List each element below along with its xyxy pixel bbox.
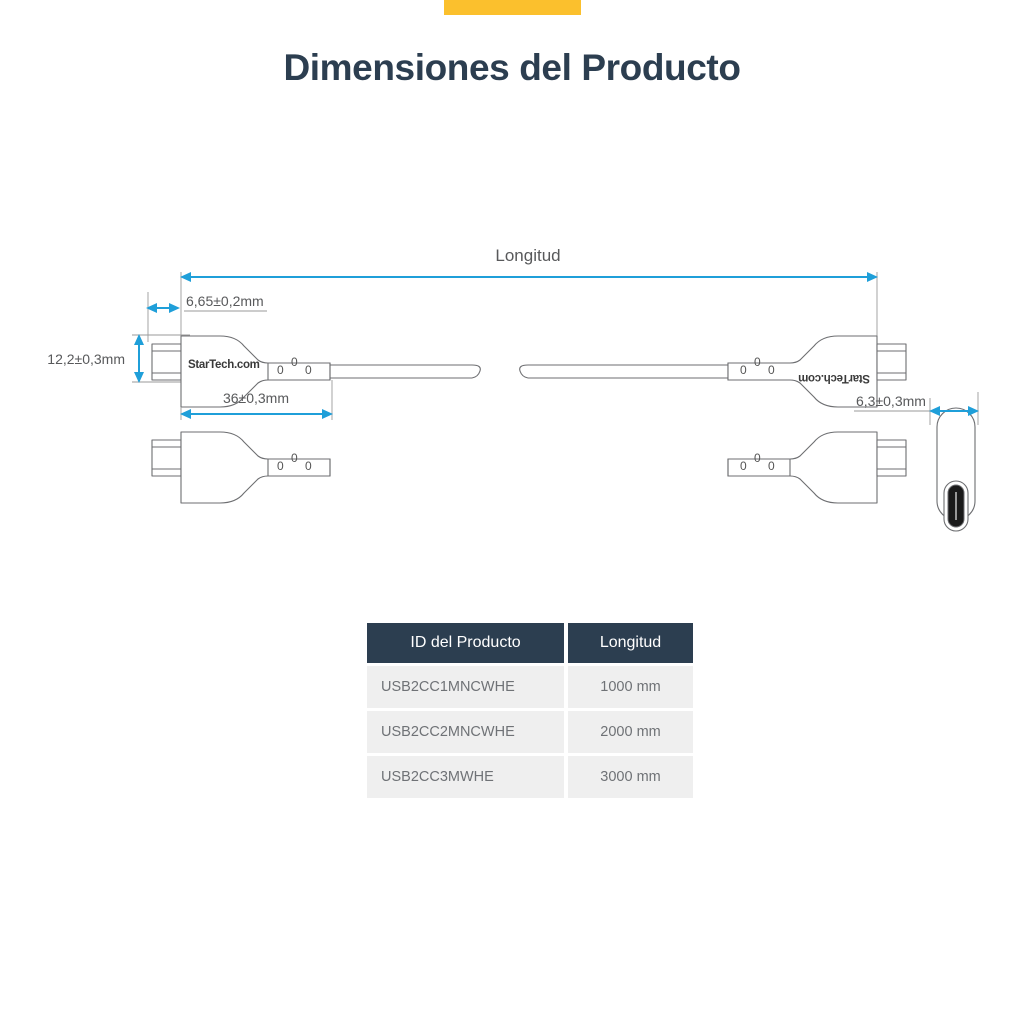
connector-upper-left: StarTech.com 0 0 0	[152, 336, 480, 407]
product-dimension-diagram: Longitud 6,65±0,2mm 12,2±0,3mm	[0, 220, 1024, 550]
cell-length: 3000 mm	[568, 756, 693, 798]
product-dimensions-page: Dimensiones del Producto Longitud 6,65±0…	[0, 0, 1024, 1024]
table-header-row: ID del Producto Longitud	[367, 623, 693, 663]
cell-length: 2000 mm	[568, 711, 693, 753]
brand-label-upper-left: StarTech.com	[188, 359, 260, 371]
brand-label-upper-right: StarTech.com	[798, 372, 870, 384]
connector-mark: 0	[291, 355, 298, 369]
dimension-label-tip-length: 6,65±0,2mm	[186, 293, 264, 309]
table-row: USB2CC2MNCWHE 2000 mm	[367, 711, 693, 753]
dimension-label-connector-height: 12,2±0,3mm	[47, 351, 125, 367]
connector-mark: 0	[740, 459, 747, 473]
connector-mark: 0	[754, 451, 761, 465]
cell-product-id: USB2CC1MNCWHE	[367, 666, 564, 708]
connector-lower-right: 0 0 0	[728, 432, 906, 503]
connector-mark: 0	[291, 451, 298, 465]
column-header-length: Longitud	[568, 623, 693, 663]
overall-length-arrow	[180, 272, 878, 282]
connector-mark: 0	[768, 459, 775, 473]
column-header-product-id: ID del Producto	[367, 623, 564, 663]
connector-mark: 0	[754, 355, 761, 369]
overall-length-label: Longitud	[495, 246, 560, 265]
table-row: USB2CC3MWHE 3000 mm	[367, 756, 693, 798]
table-row: USB2CC1MNCWHE 1000 mm	[367, 666, 693, 708]
connector-mark: 0	[305, 363, 312, 377]
connector-lower-left: 0 0 0	[152, 432, 330, 503]
cell-product-id: USB2CC2MNCWHE	[367, 711, 564, 753]
cell-length: 1000 mm	[568, 666, 693, 708]
connector-mark: 0	[768, 363, 775, 377]
cell-product-id: USB2CC3MWHE	[367, 756, 564, 798]
connector-mark: 0	[277, 363, 284, 377]
connector-mark: 0	[305, 459, 312, 473]
dimension-label-connector-length: 36±0,3mm	[223, 390, 289, 406]
product-spec-table: ID del Producto Longitud USB2CC1MNCWHE 1…	[363, 620, 697, 801]
connector-mark: 0	[740, 363, 747, 377]
accent-bar	[444, 0, 581, 15]
dimension-label-connector-width: 6,3±0,3mm	[856, 393, 926, 409]
tip-length-arrow	[146, 303, 180, 313]
connector-height-arrow	[134, 334, 144, 383]
connector-end-view	[937, 408, 975, 531]
connector-upper-right: 0 0 0 StarTech.com	[520, 336, 906, 407]
connector-length-arrow	[180, 409, 333, 419]
connector-mark: 0	[277, 459, 284, 473]
page-title: Dimensiones del Producto	[0, 47, 1024, 89]
